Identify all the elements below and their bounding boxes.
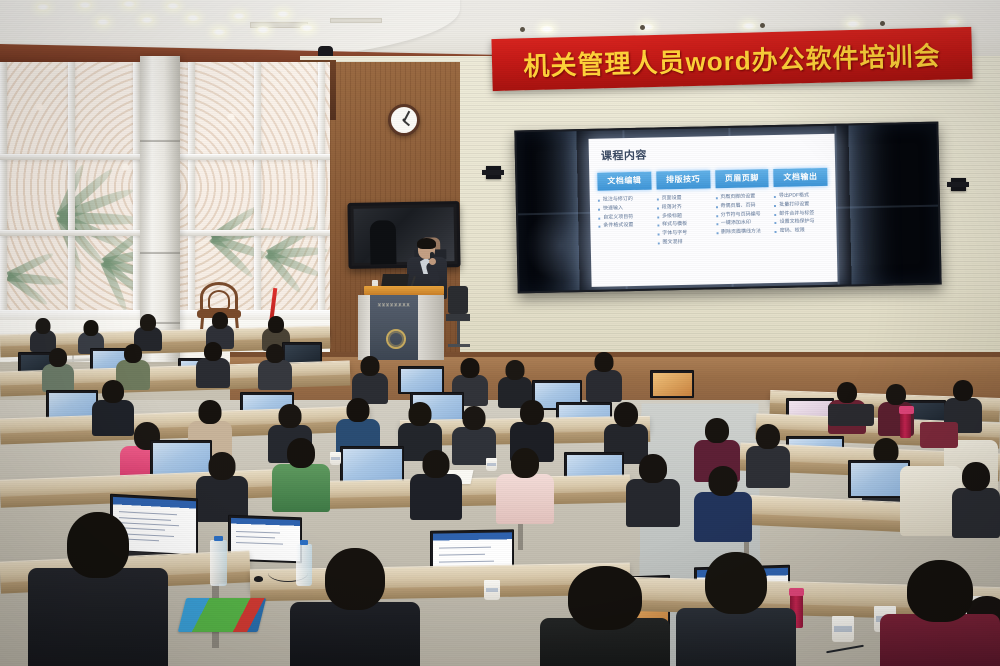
banner-text: 机关管理人员word办公软件培训会 (523, 35, 941, 83)
document-text-line (236, 531, 280, 534)
downlight-icon (186, 14, 200, 22)
attendee-head (49, 348, 67, 367)
attendee-torso (626, 479, 680, 527)
slide-bullet: 删除页眉横线方法 (716, 227, 770, 237)
column-joint (140, 252, 180, 254)
slide-column-header: 文档编辑 (597, 172, 651, 191)
podium-label: 某某某某某某某某 (371, 303, 417, 308)
downlight-icon (742, 22, 756, 30)
attendee (42, 348, 74, 390)
slide-column-header: 页眉页脚 (715, 169, 769, 188)
attendee-head (409, 402, 432, 426)
chair-seat (446, 314, 470, 321)
attendee-head (347, 398, 370, 422)
slide-bullet: 图文混排 (657, 237, 711, 247)
slide-column: 文档输出 导出PDF格式 批量打印设置 邮件合并与标签 设置文档保护与 密码、权… (773, 168, 828, 245)
attendee-torso (272, 464, 330, 512)
attendee-head (266, 344, 284, 363)
paper-cup (484, 580, 500, 600)
attendee-foreground (880, 560, 1000, 666)
attendee-head (639, 454, 667, 483)
stage-chair (446, 286, 472, 356)
document-text-line (439, 547, 491, 549)
banner-pin (760, 23, 765, 28)
attendee (746, 424, 790, 486)
attendee-torso (196, 358, 230, 388)
downlight-icon (78, 1, 92, 9)
column-joint (140, 140, 180, 142)
attendee-head (423, 450, 450, 478)
podium-side-panel (418, 295, 444, 360)
laptop-screen (650, 370, 694, 398)
attendee (952, 462, 1000, 534)
attendee (258, 344, 292, 388)
slide-column: 排版技巧 页面设置 段落对齐 多级标题 样式与模板 字体与字号 图文混排 (656, 170, 711, 247)
chair-base (448, 344, 470, 347)
document-text-line (236, 536, 275, 538)
attendee-head (102, 380, 124, 403)
wall-speaker-icon (486, 166, 501, 179)
attendee-head (67, 512, 129, 578)
downlight-icon (540, 25, 554, 33)
attendee-torso (496, 474, 554, 524)
laptop-screen (398, 366, 444, 394)
downlight-icon (300, 24, 314, 32)
attendee-head (463, 406, 486, 430)
presenter-hand (429, 258, 436, 265)
attendee (196, 342, 230, 386)
water-bottle (210, 540, 227, 586)
slide-bullet: 条件格式设置 (598, 221, 652, 231)
attendee (694, 466, 752, 540)
attendee-head (461, 358, 480, 378)
presenter-hair (417, 238, 436, 249)
attendee-torso (410, 474, 462, 520)
attendee-head (907, 560, 973, 622)
slide-column-items: 页面设置 段落对齐 多级标题 样式与模板 字体与字号 图文混排 (656, 193, 711, 247)
attendee-head (705, 418, 729, 443)
downlight-icon (212, 28, 226, 36)
attendee-head (614, 402, 638, 427)
attendee-head (568, 566, 642, 630)
attendee-head (140, 314, 156, 331)
slide-column-header: 文档输出 (773, 168, 827, 187)
attendee-torso (586, 370, 622, 402)
wall-clock-icon (388, 104, 420, 136)
thermos (900, 412, 911, 438)
chair-backrest-inner (208, 290, 230, 310)
banner-pin (640, 25, 645, 30)
slide-column-items: 导出PDF格式 批量打印设置 邮件合并与标签 设置文档保护与 密码、权限 (774, 191, 829, 236)
computer-mouse (254, 576, 263, 582)
podium-emblem-icon (386, 329, 406, 349)
attendee (626, 454, 680, 524)
attendee-head (709, 466, 738, 496)
slide-bullet: 密码、权限 (775, 226, 829, 236)
attendee-foreground (540, 566, 670, 666)
attendee (586, 352, 622, 400)
attendee-head (511, 448, 539, 478)
document-text-line (439, 554, 485, 556)
attendee-head (595, 352, 614, 372)
attendee (410, 450, 462, 518)
monitor-silhouette (370, 220, 397, 264)
laptop-display (401, 369, 442, 392)
ceiling-vent (330, 18, 382, 23)
attendee-head (84, 320, 99, 336)
slide-column: 文档编辑 批注与修订的 快速输入 自定义项目符 条件格式设置 (597, 172, 652, 249)
downlight-icon (232, 12, 246, 20)
attendee-head (279, 404, 302, 428)
attendee-torso (694, 492, 752, 542)
attendee-head (361, 356, 380, 376)
attendee-torso (676, 608, 796, 666)
banner-pin (880, 21, 885, 26)
attendee-head (268, 316, 284, 333)
downlight-icon (96, 18, 110, 26)
bottle-cap (214, 536, 224, 541)
wall-speaker-icon (951, 178, 966, 191)
document-text-line (236, 542, 283, 545)
attendee-torso (28, 568, 168, 666)
attendee-torso (258, 360, 292, 390)
podium-top (364, 286, 444, 295)
attendee-head (506, 360, 525, 380)
downlight-icon (166, 2, 180, 10)
laptop-display (653, 373, 692, 396)
downlight-icon (276, 10, 290, 18)
attendee-head (212, 312, 228, 329)
paper-cup (832, 616, 854, 642)
backpack (828, 404, 874, 426)
laptop-display (343, 449, 402, 484)
attendee-head (325, 548, 385, 610)
video-wall-display: 课程内容 文档编辑 批注与修订的 快速输入 自定义项目符 条件格式设置 排版技巧… (514, 122, 941, 294)
mousepad (178, 598, 266, 632)
podium: 某某某某某某某某 (364, 286, 444, 360)
bottle-cap (300, 540, 309, 545)
downlight-icon (122, 0, 136, 8)
slide-column: 页眉页脚 页眉页脚的设置 奇偶页眉、页码 分节符与页码编号 一键添加水印 删除页… (715, 169, 770, 246)
slide-column-items: 页眉页脚的设置 奇偶页眉、页码 分节符与页码编号 一键添加水印 删除页眉横线方法 (715, 192, 770, 237)
attendee-pale-puffer (496, 448, 554, 520)
attendee (352, 356, 388, 402)
clock-center (403, 119, 406, 122)
attendee-torso (746, 446, 790, 488)
attendee-head (36, 318, 51, 334)
attendee-torso (952, 488, 1000, 538)
document-text-line (439, 561, 494, 563)
slide-column-header: 排版技巧 (656, 170, 710, 189)
videowall-reflection (524, 209, 597, 282)
attendee-foreground (290, 548, 420, 666)
thermos-cap (899, 406, 914, 414)
attendee (30, 318, 56, 350)
downlight-icon (846, 20, 860, 28)
chair-pole (457, 321, 460, 345)
attendee-head (209, 452, 236, 480)
downlight-icon (36, 3, 50, 11)
downlight-icon (946, 18, 960, 26)
attendee-torso (290, 602, 420, 666)
presentation-slide: 课程内容 文档编辑 批注与修订的 快速输入 自定义项目符 条件格式设置 排版技巧… (589, 134, 838, 287)
slide-column-items: 批注与修订的 快速输入 自定义项目符 条件格式设置 (598, 195, 652, 231)
downlight-icon (256, 26, 270, 34)
downlight-icon (140, 16, 154, 24)
attendee-head (962, 462, 990, 491)
laptop-display (851, 463, 908, 496)
handbag (920, 422, 958, 448)
banner-pin (520, 27, 525, 32)
attendee-head (837, 382, 857, 403)
slide-title: 课程内容 (601, 147, 647, 164)
attendee-head (204, 342, 222, 361)
attendee-head (124, 344, 142, 363)
attendee-torso (42, 364, 74, 392)
attendee-head (705, 552, 767, 614)
podium-left-panel (358, 295, 370, 360)
attendee-head (199, 400, 222, 424)
attendee-foreground (676, 552, 796, 666)
attendee-head (520, 400, 544, 425)
attendee-head (953, 380, 973, 401)
paper-cup (330, 452, 341, 465)
attendee-green-hoodie (272, 438, 330, 510)
attendee-foreground (28, 512, 168, 666)
attendee-head (287, 438, 315, 468)
attendee-head (886, 384, 906, 405)
attendee-head (756, 424, 780, 449)
attendee (196, 452, 248, 520)
slide-columns: 文档编辑 批注与修订的 快速输入 自定义项目符 条件格式设置 排版技巧 页面设置… (597, 168, 829, 248)
chair-back (448, 286, 468, 314)
lecture-hall-photo: 机关管理人员word办公软件培训会 课程内容 文档编辑 批注与修订的 快速输入 … (0, 0, 1000, 666)
